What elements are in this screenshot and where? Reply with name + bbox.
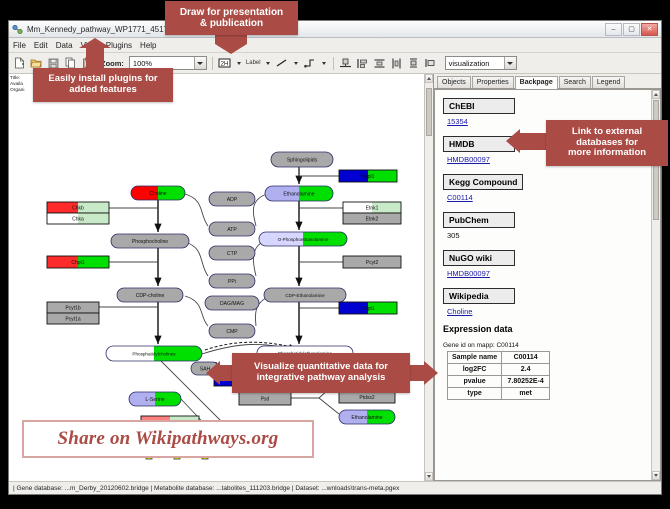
share-banner: Share on Wikipathways.org — [22, 420, 314, 458]
status-text: | Gene database: ...m_Derby_20120602.bri… — [13, 485, 399, 492]
draw-callout-stem — [215, 35, 247, 44]
pathway-gene-node[interactable]: Chkb — [47, 202, 109, 213]
line-dropdown-icon[interactable] — [292, 62, 300, 65]
svg-text:ATP: ATP — [227, 227, 237, 233]
pathway-metabolite-node[interactable]: ATP — [209, 222, 255, 236]
pathway-metabolite-node[interactable]: CMP — [209, 324, 255, 338]
pathway-gene-node[interactable]: Cept1 — [339, 302, 397, 314]
expression-table: Sample name C00114 log2FC 2.4 pvalue 7.8… — [447, 351, 550, 400]
bp-scroll-up-icon[interactable] — [652, 90, 660, 99]
svg-text:O-Phosphoethanolamine: O-Phosphoethanolamine — [278, 237, 329, 242]
svg-text:Ethanolamine: Ethanolamine — [351, 415, 382, 421]
scroll-thumb[interactable] — [426, 88, 432, 136]
line-tool-icon[interactable] — [275, 56, 289, 71]
align-top-icon[interactable] — [339, 56, 353, 71]
db-header-wikipedia: Wikipedia — [443, 288, 515, 304]
link-callout-stem — [519, 133, 547, 150]
pathvisio-icon — [12, 24, 23, 35]
pathway-gene-node[interactable]: Chka — [47, 213, 109, 224]
pathway-metabolite-node[interactable]: Ethanolamine — [339, 410, 395, 424]
pathway-metabolite-node[interactable]: CTP — [209, 246, 255, 260]
pathway-gene-node[interactable]: Chpt1 — [47, 256, 109, 268]
svg-text:Pcyt2: Pcyt2 — [366, 260, 379, 266]
svg-text:L-Serine: L-Serine — [145, 397, 164, 403]
callout-link-line3: more information — [568, 148, 646, 159]
order-icon[interactable] — [424, 56, 438, 71]
callout-link-line1: Link to external — [572, 127, 642, 138]
pathway-metabolite-node[interactable]: PPi — [209, 274, 255, 288]
pathway-gene-node[interactable]: Pcyt1a — [47, 313, 99, 324]
pathway-metabolite-node[interactable]: Sphingolipids — [271, 152, 333, 167]
viz-callout-stem-right — [408, 365, 425, 381]
gene-id-line: Gene id on mapp: C00114 — [443, 342, 654, 349]
db-link-wikipedia[interactable]: Choline — [447, 307, 654, 316]
share-banner-text: Share on Wikipathways.org — [58, 428, 279, 450]
expr-val-sample: C00114 — [502, 352, 550, 364]
svg-text:Chpt1: Chpt1 — [71, 260, 85, 266]
svg-text:Etnk1: Etnk1 — [366, 206, 379, 212]
link-callout-arrow-icon — [506, 129, 520, 153]
title-bar: Mm_Kennedy_pathway_WP1771_45176.gpml – ▢… — [9, 21, 661, 38]
toolbar-separator — [212, 57, 213, 70]
maximize-button[interactable]: ▢ — [623, 23, 640, 36]
svg-text:Ptdss2: Ptdss2 — [359, 395, 375, 401]
svg-text:Phosphatidylcholines: Phosphatidylcholines — [132, 352, 176, 357]
new-file-icon[interactable] — [12, 56, 26, 71]
pathway-metabolite-node[interactable]: ADP — [209, 192, 255, 206]
pathway-metabolite-node[interactable]: Ethanolamine — [265, 186, 333, 201]
pathway-gene-node[interactable]: Etnk1 — [343, 202, 401, 213]
callout-draw: Draw for presentation & publication — [165, 1, 298, 35]
pathway-gene-node[interactable]: Sgpl1 — [339, 170, 397, 182]
svg-text:Cept1: Cept1 — [361, 306, 375, 312]
svg-text:Choline: Choline — [149, 191, 166, 197]
visualization-combobox[interactable]: visualization — [445, 56, 517, 70]
close-button[interactable]: ✕ — [641, 23, 658, 36]
distribute-vertical-icon[interactable] — [373, 56, 387, 71]
svg-text:2H: 2H — [221, 61, 229, 67]
menu-item-help[interactable]: Help — [140, 41, 156, 50]
svg-text:Pcyt1a: Pcyt1a — [65, 317, 81, 323]
chevron-down-icon[interactable] — [194, 57, 206, 69]
label-dropdown-icon[interactable] — [264, 62, 272, 65]
zoom-label: Zoom: — [101, 59, 124, 68]
db-link-nugo[interactable]: HMDB00097 — [447, 269, 654, 278]
pathway-metabolite-node[interactable]: Choline — [131, 186, 185, 200]
distribute-horizontal-icon[interactable] — [390, 56, 404, 71]
svg-text:Chkb: Chkb — [72, 206, 84, 212]
viz-callout-arrow-right-icon — [424, 361, 438, 385]
pathway-metabolite-node[interactable]: Phosphatidylcholines — [106, 346, 202, 361]
pathway-gene-node[interactable]: Pcyt2 — [343, 256, 401, 268]
db-header-chebi: ChEBI — [443, 98, 515, 114]
callout-visualize: Visualize quantitative data for integrat… — [232, 353, 410, 393]
svg-text:ADP: ADP — [227, 197, 238, 203]
table-row: pvalue 7.80252E-4 — [448, 376, 550, 388]
toolbar-separator-2 — [333, 57, 334, 70]
menu-item-data[interactable]: Data — [56, 41, 73, 50]
tab-objects[interactable]: Objects — [437, 76, 471, 88]
svg-text:Sgpl1: Sgpl1 — [362, 174, 375, 180]
callout-plugins: Easily install plugins for added feature… — [33, 68, 173, 102]
svg-text:Phosphocholine: Phosphocholine — [132, 239, 168, 245]
pathway-gene-node[interactable]: Pcyt1b — [47, 302, 99, 313]
table-row: log2FC 2.4 — [448, 364, 550, 376]
pathway-metabolite-node[interactable]: L-Serine — [129, 392, 181, 406]
interaction-tool-icon[interactable] — [303, 56, 317, 71]
expr-val-log2fc: 2.4 — [502, 364, 550, 376]
db-header-hmdb: HMDB — [443, 136, 515, 152]
pathway-metabolite-node[interactable]: DAG/MAG — [205, 296, 259, 310]
svg-text:Sphingolipids: Sphingolipids — [287, 158, 318, 164]
svg-text:Chka: Chka — [72, 217, 84, 223]
db-header-pubchem: PubChem — [443, 212, 515, 228]
plugins-callout-stem — [86, 46, 104, 68]
svg-text:Pcyt1b: Pcyt1b — [65, 306, 81, 312]
pathway-metabolite-node[interactable]: Phosphocholine — [111, 234, 189, 248]
pathway-metabolite-node[interactable]: CDP-choline — [117, 288, 183, 302]
status-bar: | Gene database: ...m_Derby_20120602.bri… — [9, 481, 661, 494]
window-controls: – ▢ ✕ — [605, 23, 658, 36]
align-left-icon[interactable] — [356, 56, 370, 71]
side-panel-tabs: Objects Properties Backpage Search Legen… — [434, 74, 661, 89]
expr-key-sample: Sample name — [448, 352, 502, 364]
expr-key-type: type — [448, 388, 502, 400]
tab-search[interactable]: Search — [559, 76, 591, 88]
tab-properties[interactable]: Properties — [472, 76, 514, 88]
minimize-button[interactable]: – — [605, 23, 622, 36]
table-row: Sample name C00114 — [448, 352, 550, 364]
svg-text:CDP-Ethanolamine: CDP-Ethanolamine — [285, 293, 325, 298]
zoom-value: 100% — [133, 59, 152, 68]
svg-text:PPi: PPi — [228, 279, 236, 285]
svg-text:DAG/MAG: DAG/MAG — [220, 301, 244, 307]
callout-viz-line2: integrative pathway analysis — [257, 373, 386, 384]
datanode-tool-icon[interactable]: 2H — [218, 56, 232, 71]
callout-draw-line2: & publication — [180, 18, 283, 30]
tab-backpage[interactable]: Backpage — [515, 76, 558, 89]
pathway-gene-node[interactable]: Psd — [239, 392, 291, 405]
expr-key-pvalue: pvalue — [448, 376, 502, 388]
svg-text:CDP-choline: CDP-choline — [136, 293, 165, 299]
chevron-down-icon-2[interactable] — [504, 57, 516, 69]
db-link-kegg[interactable]: C00114 — [447, 193, 654, 202]
expr-key-log2fc: log2FC — [448, 364, 502, 376]
menu-item-edit[interactable]: Edit — [34, 41, 48, 50]
svg-text:Etnk2: Etnk2 — [366, 217, 379, 223]
db-value-pubchem: 305 — [447, 231, 654, 240]
menu-item-file[interactable]: File — [13, 41, 26, 50]
svg-text:CMP: CMP — [226, 329, 238, 335]
label-tool-label: Label — [246, 60, 261, 66]
expr-val-pvalue: 7.80252E-4 — [502, 376, 550, 388]
svg-text:Psd: Psd — [261, 397, 270, 403]
db-header-nugo: NuGO wiki — [443, 250, 515, 266]
bp-scroll-down-icon[interactable] — [652, 471, 660, 480]
table-row: type met — [448, 388, 550, 400]
callout-plugins-line2: added features — [48, 85, 157, 96]
pathway-gene-node[interactable]: Etnk2 — [343, 213, 401, 224]
pathway-metabolite-node[interactable]: CDP-Ethanolamine — [264, 288, 346, 302]
expr-val-type: met — [502, 388, 550, 400]
visualization-value: visualization — [449, 59, 490, 68]
db-header-kegg: Kegg Compound — [443, 174, 523, 190]
group-icon[interactable] — [407, 56, 421, 71]
scroll-down-icon[interactable] — [425, 472, 433, 481]
callout-external-links: Link to external databases for more info… — [546, 120, 668, 166]
scroll-up-icon[interactable] — [425, 74, 433, 83]
draw-callout-arrow-icon — [215, 44, 247, 54]
callout-draw-line1: Draw for presentation — [180, 7, 283, 19]
interaction-dropdown-icon[interactable] — [320, 62, 328, 65]
canvas-vertical-scrollbar[interactable] — [424, 74, 433, 481]
expression-data-heading: Expression data — [443, 324, 654, 334]
pathway-metabolite-node[interactable]: O-Phosphoethanolamine — [259, 232, 347, 246]
tab-legend[interactable]: Legend — [592, 76, 625, 88]
svg-text:CTP: CTP — [227, 251, 238, 257]
svg-text:Ethanolamine: Ethanolamine — [283, 192, 314, 198]
datanode-dropdown-icon[interactable] — [235, 62, 243, 65]
